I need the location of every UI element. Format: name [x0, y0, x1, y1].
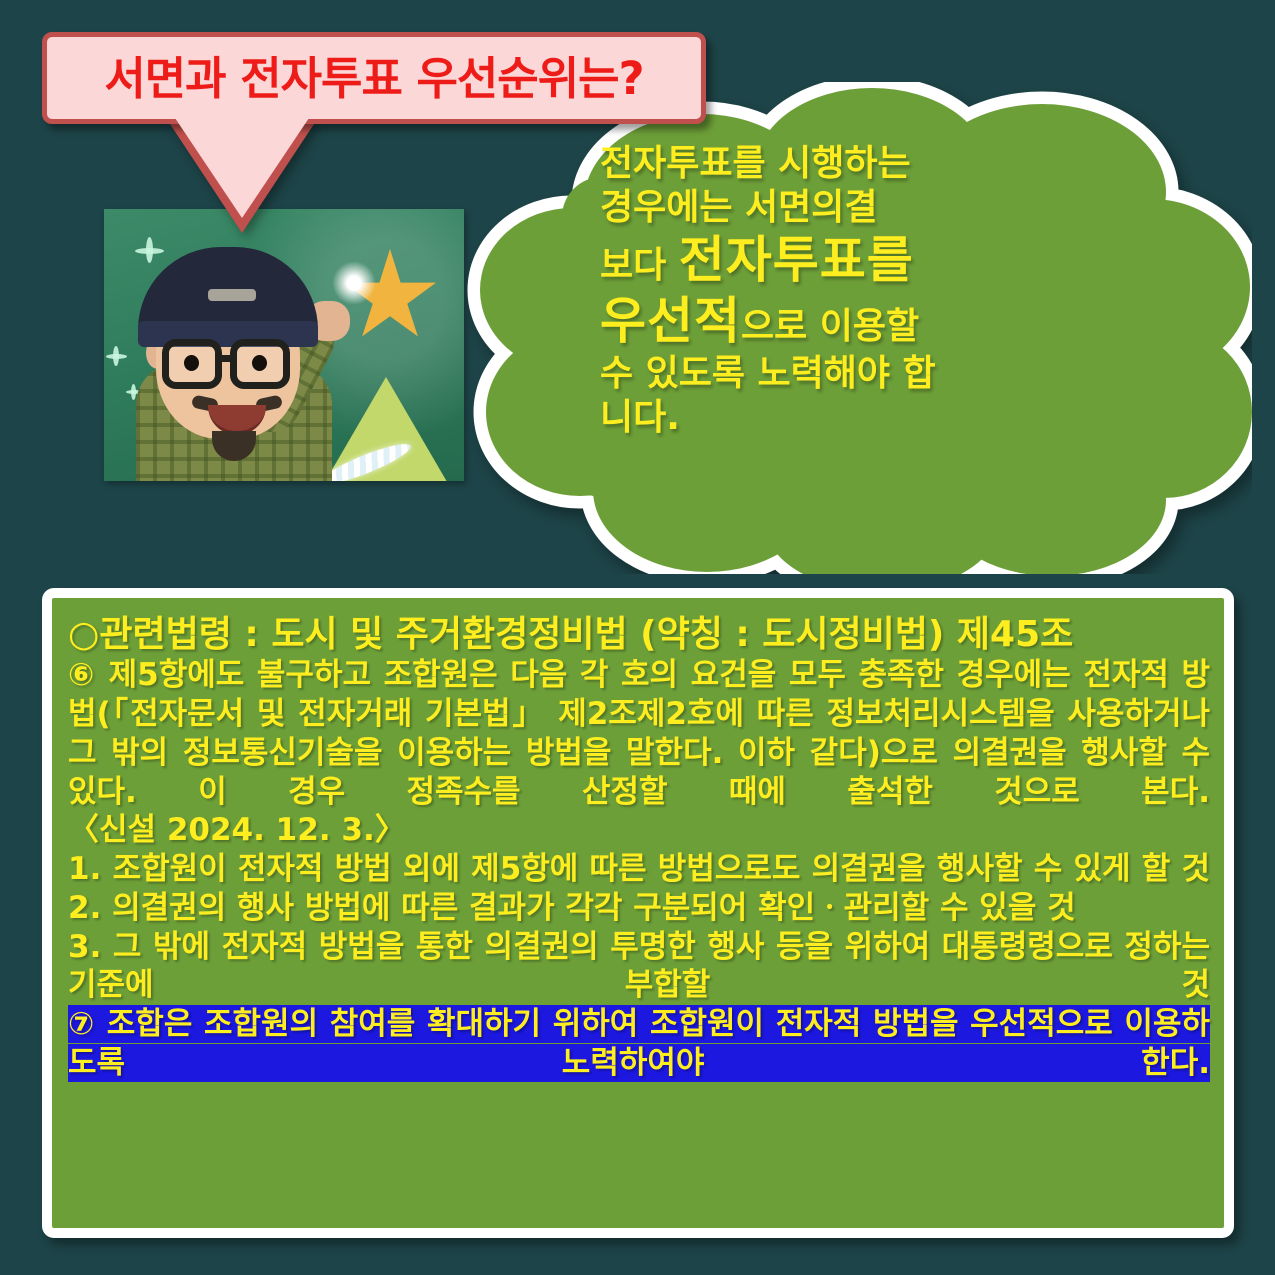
legal-amendment-note: 〈신설 2024. 12. 3.〉 [68, 811, 1210, 850]
title-callout-tail-fill [175, 118, 309, 218]
bubble-line-1: 전자투표를 시행하는 [600, 142, 1090, 186]
highlight-mark: ⑦ 조합은 조합원의 참여를 확대하기 위하여 조합원이 전자적 방법을 우선적… [68, 1005, 1210, 1082]
speech-bubble-cloud: 전자투표를 시행하는 경우에는 서면의결 보다 전자투표를 우선적으로 이용할 … [452, 82, 1252, 574]
bubble-line-4-emphasis: 우선적 [600, 292, 741, 350]
speech-bubble-text: 전자투표를 시행하는 경우에는 서면의결 보다 전자투표를 우선적으로 이용할 … [600, 142, 1090, 440]
legal-item-1: 1. 조합원이 전자적 방법 외에 제5항에 따른 방법으로도 의결권을 행사할… [68, 850, 1210, 889]
avatar-eye-left [184, 355, 199, 371]
bubble-line-2: 경우에는 서면의결 [600, 186, 1090, 230]
bubble-line-6: 니다. [600, 396, 1090, 440]
avatar [104, 209, 464, 481]
bubble-line-3: 보다 전자투표를 [600, 230, 1090, 291]
title-callout: 서면과 전자투표 우선순위는? [42, 32, 706, 124]
legal-paragraph-6: ⑥ 제5항에도 불구하고 조합원은 다음 각 호의 요건을 모두 충족한 경우에… [68, 656, 1210, 811]
legal-reference-panel: ○관련법령 : 도시 및 주거환경정비법 (약칭 : 도시정비법) 제45조 ⑥… [42, 588, 1234, 1238]
legal-item-3: 3. 그 밖에 전자적 방법을 통한 의결권의 투명한 행사 등을 위하여 대통… [68, 928, 1210, 1006]
page-title: 서면과 전자투표 우선순위는? [104, 56, 643, 101]
avatar-eye-right [252, 355, 267, 371]
legal-paragraph-7-highlighted: ⑦ 조합은 조합원의 참여를 확대하기 위하여 조합원이 전자적 방법을 우선적… [68, 1005, 1210, 1083]
legal-item-2: 2. 의결권의 행사 방법에 따른 결과가 각각 구분되어 확인ㆍ관리할 수 있… [68, 889, 1210, 928]
sparkle-icon [135, 248, 164, 254]
bubble-line-3-emphasis: 전자투표를 [679, 231, 914, 289]
bubble-line-4: 우선적으로 이용할 [600, 291, 1090, 352]
avatar-cap-patch [208, 289, 256, 301]
bubble-line-5: 수 있도록 노력해야 합 [600, 352, 1090, 396]
legal-heading: ○관련법령 : 도시 및 주거환경정비법 (약칭 : 도시정비법) 제45조 [68, 614, 1210, 656]
bubble-line-3-prefix: 보다 [600, 245, 679, 286]
glasses-bridge-icon [220, 355, 234, 362]
bubble-line-4-suffix: 으로 이용할 [741, 306, 919, 347]
sparkle-icon [106, 354, 127, 359]
star-glint-icon [332, 261, 376, 305]
